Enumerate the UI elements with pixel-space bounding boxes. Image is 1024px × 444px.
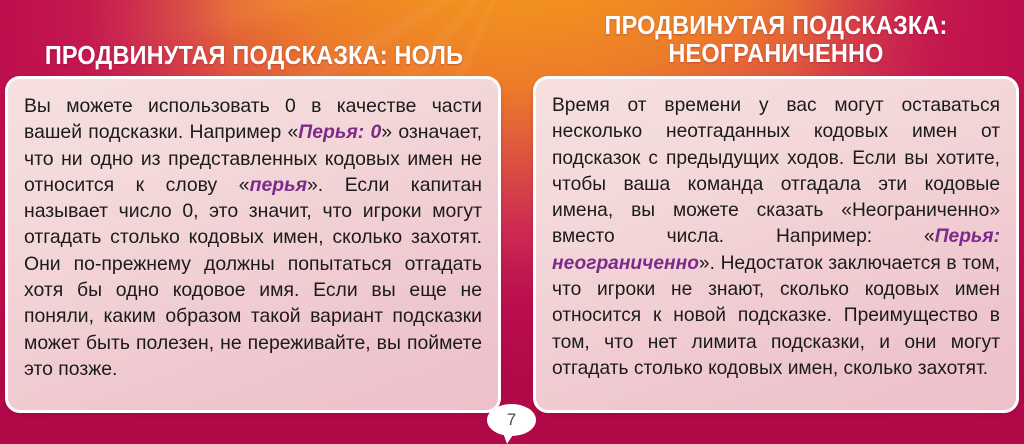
panel-unlimited: Время от времени у вас могут оставаться … xyxy=(533,76,1019,413)
rulebook-page: ПРОДВИНУТАЯ ПОДСКАЗКА: НОЛЬ Вы можете ис… xyxy=(0,0,1024,444)
panel-zero: Вы можете использовать 0 в качестве част… xyxy=(5,76,501,413)
panel-zero-inner: Вы можете использовать 0 в качестве част… xyxy=(8,79,498,392)
page-number-badge: 7 xyxy=(487,404,536,436)
highlighted-clue-example: Перья: 0 xyxy=(298,121,381,143)
highlighted-clue-example: перья xyxy=(250,174,307,196)
panel-unlimited-paragraph: Время от времени у вас могут оставаться … xyxy=(552,93,1000,382)
panel-unlimited-inner: Время от времени у вас могут оставаться … xyxy=(536,79,1016,392)
highlighted-clue-example: Перья: неограниченно xyxy=(552,226,1000,273)
section-title-zero: ПРОДВИНУТАЯ ПОДСКАЗКА: НОЛЬ xyxy=(26,42,482,70)
panel-zero-paragraph: Вы можете использовать 0 в качестве част… xyxy=(24,93,482,382)
section-title-unlimited: ПРОДВИНУТАЯ ПОДСКАЗКА: НЕОГРАНИЧЕННО xyxy=(551,12,1002,68)
